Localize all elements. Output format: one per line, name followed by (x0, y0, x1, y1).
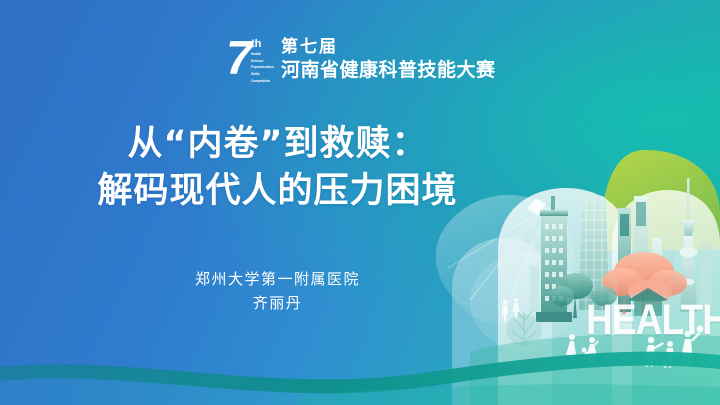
presentation-slide: 7 th Health Science Popularization Skill… (0, 0, 720, 405)
presenter-name: 齐丽丹 (0, 292, 555, 315)
presenter-block: 郑州大学第一附属医院 齐丽丹 (0, 268, 555, 316)
logo-english-line: Competition (251, 78, 273, 85)
title-line-1: 从“内卷”到救赎： (0, 122, 555, 168)
title-line-2: 解码现代人的压力困境 (0, 169, 555, 215)
logo-chinese-text: 第七届 河南省健康科普技能大赛 (281, 36, 496, 82)
logo-english-line: Health (251, 51, 273, 58)
health-wordmark: HEALTH (586, 296, 720, 345)
slide-title: 从“内卷”到救赎： 解码现代人的压力困境 (0, 122, 555, 214)
logo-english-lines: Health Science Popularization Skills Com… (251, 51, 275, 84)
logo-edition-label: 第七届 (281, 37, 496, 57)
logo-english-line: Skills (251, 71, 273, 78)
logo-english-line: Popularization (251, 64, 273, 71)
bottom-waves (0, 352, 720, 405)
edition-number: 7 (226, 34, 250, 81)
event-logo: 7 th Health Science Popularization Skill… (226, 36, 496, 94)
edition-mark: 7 th Health Science Popularization Skill… (226, 36, 272, 94)
logo-english-line: Science (251, 58, 273, 65)
logo-competition-name: 河南省健康科普技能大赛 (281, 59, 496, 82)
presenter-affiliation: 郑州大学第一附属医院 (0, 268, 555, 291)
edition-suffix: th (251, 39, 261, 50)
